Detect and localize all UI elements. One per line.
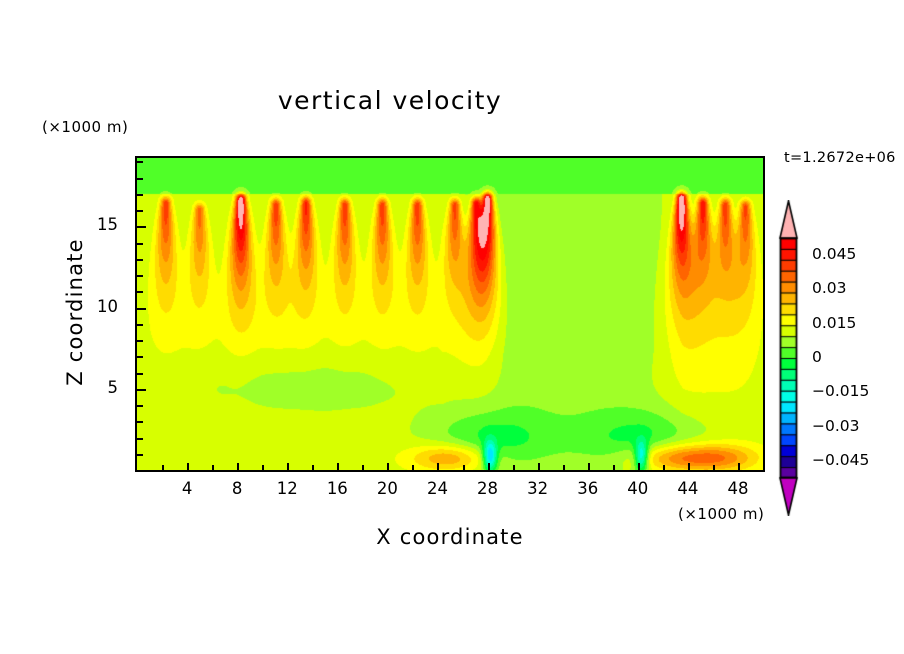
y-axis-tick [136, 405, 143, 407]
vertical-velocity-contour-field [137, 158, 763, 470]
x-axis-tick [212, 465, 214, 472]
x-tick-label: 48 [718, 479, 758, 498]
x-axis-label: X coordinate [235, 525, 665, 549]
x-axis-tick [387, 463, 389, 472]
y-axis-tick [136, 373, 143, 375]
x-tick-label: 28 [468, 479, 508, 498]
colorbar-tick-label: 0 [812, 348, 822, 366]
page-title: vertical velocity [0, 86, 780, 115]
colorbar-tick-label: 0.03 [812, 279, 847, 297]
contour-plot-area [135, 156, 765, 472]
timestamp-label: t=1.2672e+06 [784, 150, 896, 166]
x-axis-tick [563, 465, 565, 472]
x-axis-tick [763, 465, 765, 472]
y-axis-tick [136, 389, 146, 391]
colorbar-tick-label: −0.03 [812, 417, 860, 435]
y-tick-label: 5 [86, 378, 118, 397]
x-axis-tick [713, 465, 715, 472]
y-axis-tick [136, 340, 143, 342]
y-axis-tick [136, 291, 143, 293]
y-tick-label: 10 [86, 297, 118, 316]
y-axis-tick [136, 178, 143, 180]
x-axis-tick [187, 463, 189, 472]
y-axis-tick [136, 210, 143, 212]
x-tick-label: 36 [568, 479, 608, 498]
colorbar-gradient [778, 200, 808, 516]
y-axis-tick [136, 194, 143, 196]
y-axis-tick [136, 243, 143, 245]
x-tick-label: 12 [267, 479, 307, 498]
x-axis-tick [463, 465, 465, 472]
x-axis-tick [337, 463, 339, 472]
x-axis-tick [437, 463, 439, 472]
x-axis-tick [362, 465, 364, 472]
x-axis-tick [262, 465, 264, 472]
colorbar-tick-label: 0.015 [812, 314, 856, 332]
colorbar-tick-label: −0.015 [812, 382, 869, 400]
y-axis-tick [136, 275, 143, 277]
x-axis-tick [162, 465, 164, 472]
x-tick-label: 32 [518, 479, 558, 498]
x-tick-label: 40 [618, 479, 658, 498]
y-axis-tick [136, 259, 143, 261]
x-tick-label: 16 [317, 479, 357, 498]
y-axis-tick [136, 324, 143, 326]
colorbar: 0.0450.030.0150−0.015−0.03−0.045 [778, 200, 808, 516]
x-axis-tick [312, 465, 314, 472]
x-tick-label: 4 [167, 479, 207, 498]
x-axis-tick [613, 465, 615, 472]
y-axis-tick [136, 438, 143, 440]
x-axis-tick [488, 463, 490, 472]
x-tick-label: 24 [417, 479, 457, 498]
colorbar-tick-label: −0.045 [812, 451, 869, 469]
x-axis-tick [538, 463, 540, 472]
x-axis-tick [663, 465, 665, 472]
y-axis-tick [136, 454, 143, 456]
z-axis-unit-label: (×1000 m) [42, 118, 128, 136]
y-axis-tick [136, 356, 143, 358]
y-axis-tick [136, 161, 143, 163]
x-axis-tick [287, 463, 289, 472]
x-tick-label: 20 [367, 479, 407, 498]
x-axis-tick [638, 463, 640, 472]
x-tick-label: 44 [668, 479, 708, 498]
y-axis-label: Z coordinate [63, 192, 87, 432]
colorbar-tick-label: 0.045 [812, 245, 856, 263]
x-axis-unit-label: (×1000 m) [678, 505, 764, 523]
y-axis-tick [136, 421, 143, 423]
x-axis-tick [738, 463, 740, 472]
y-axis-tick [136, 308, 146, 310]
x-axis-tick [688, 463, 690, 472]
x-axis-tick [237, 463, 239, 472]
y-tick-label: 15 [86, 215, 118, 234]
y-axis-tick [136, 226, 146, 228]
x-tick-label: 8 [217, 479, 257, 498]
x-axis-tick [513, 465, 515, 472]
x-axis-tick [412, 465, 414, 472]
x-axis-tick [588, 463, 590, 472]
